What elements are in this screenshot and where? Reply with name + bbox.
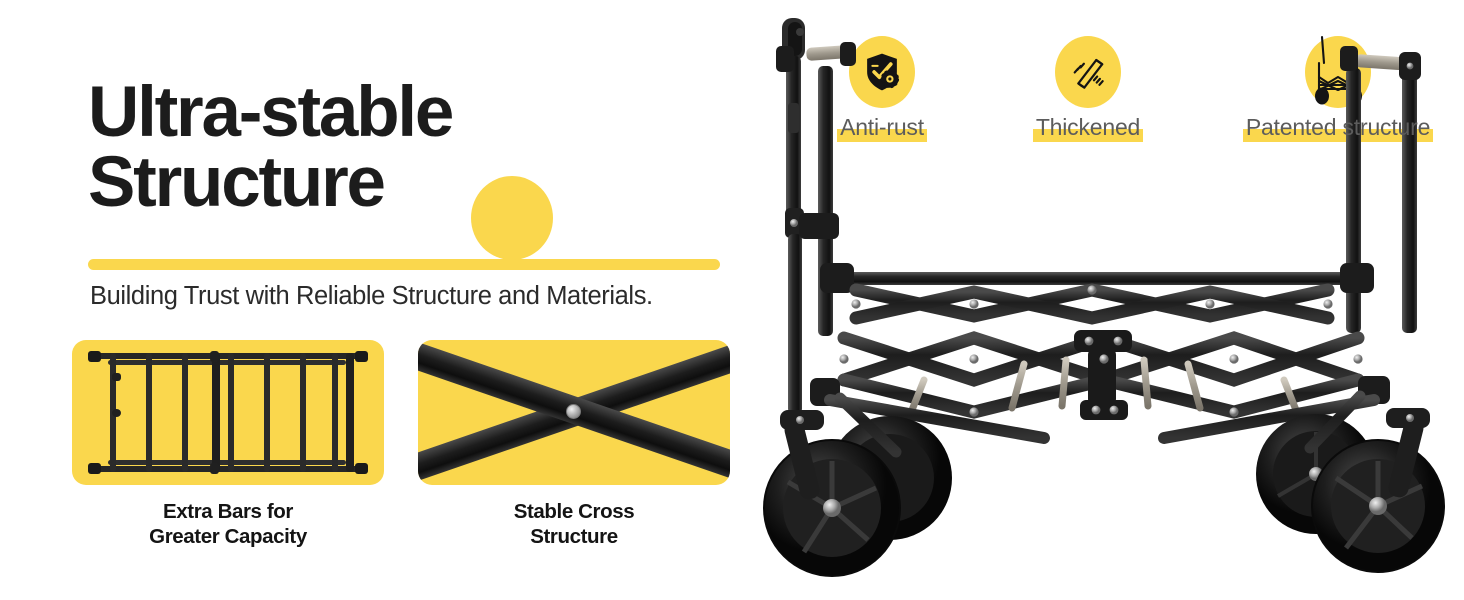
extra-bars-caption: Extra Bars for Greater Capacity bbox=[72, 499, 384, 549]
feature-panel-stable-cross: Stable Cross Structure bbox=[418, 340, 730, 549]
stable-cross-caption-line-1: Stable Cross bbox=[418, 499, 730, 524]
extra-bars-image bbox=[72, 340, 384, 485]
extra-bars-caption-line-1: Extra Bars for bbox=[72, 499, 384, 524]
badge-thickened-label: Thickened bbox=[1033, 114, 1143, 141]
page-title: Ultra-stable Structure bbox=[88, 78, 748, 219]
cross-rivet-icon bbox=[566, 404, 581, 419]
crossed-bars-illustration bbox=[418, 340, 730, 485]
page-subtitle: Building Trust with Reliable Structure a… bbox=[90, 282, 653, 311]
badge-patented-structure-label: Patented structure bbox=[1243, 114, 1433, 141]
ladder-frame-illustration bbox=[88, 351, 368, 474]
badge-anti-rust-label: Anti-rust bbox=[837, 114, 927, 141]
marketing-banner: Ultra-stable Structure Building Trust wi… bbox=[0, 0, 1464, 600]
headline-block: Ultra-stable Structure bbox=[88, 78, 748, 219]
stable-cross-image bbox=[418, 340, 730, 485]
page-title-line-2: Structure bbox=[88, 148, 748, 218]
feature-panel-extra-bars: Extra Bars for Greater Capacity bbox=[72, 340, 384, 549]
page-title-line-1: Ultra-stable bbox=[88, 78, 748, 148]
title-underline-rule bbox=[88, 259, 720, 270]
product-image-folding-wagon bbox=[744, 8, 1464, 600]
folding-wagon-cart-frame-illustration bbox=[744, 8, 1464, 600]
stable-cross-caption: Stable Cross Structure bbox=[418, 499, 730, 549]
extra-bars-caption-line-2: Greater Capacity bbox=[72, 524, 384, 549]
stable-cross-caption-line-2: Structure bbox=[418, 524, 730, 549]
